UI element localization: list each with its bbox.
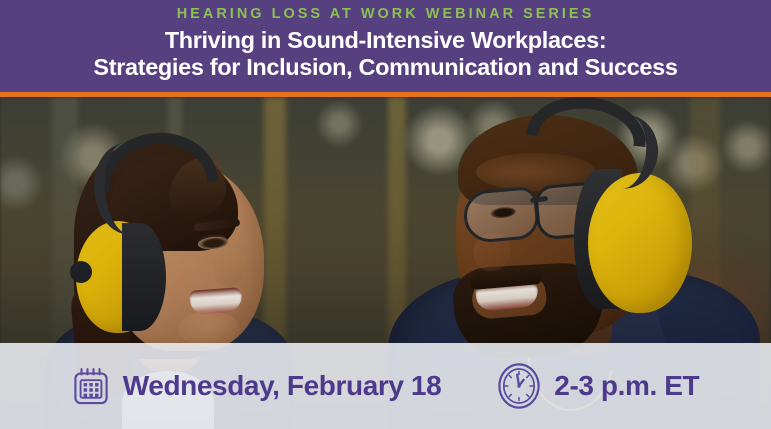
woman-ear-defender-pivot [70,261,92,283]
webinar-promo-banner: HEARING LOSS AT WORK WEBINAR SERIES Thri… [0,0,771,429]
orange-divider [0,92,771,97]
title-line-1: Thriving in Sound-Intensive Workplaces: [93,27,677,54]
footer-bar: Wednesday, February 18 [0,343,771,429]
calendar-icon [72,366,110,406]
header-bar: HEARING LOSS AT WORK WEBINAR SERIES Thri… [0,0,771,92]
time-group: 2-3 p.m. ET [497,362,699,410]
series-eyebrow-label: HEARING LOSS AT WORK WEBINAR SERIES [177,7,595,22]
webinar-time: 2-3 p.m. ET [554,372,699,400]
title-line-2: Strategies for Inclusion, Communication … [93,54,677,81]
woman-chin [178,311,240,347]
clock-icon [497,362,541,410]
page-title: Thriving in Sound-Intensive Workplaces: … [93,27,677,82]
woman-nose [214,253,244,287]
webinar-date: Wednesday, February 18 [123,372,442,400]
date-group: Wednesday, February 18 [72,366,442,406]
man-ear-defender [588,173,692,313]
